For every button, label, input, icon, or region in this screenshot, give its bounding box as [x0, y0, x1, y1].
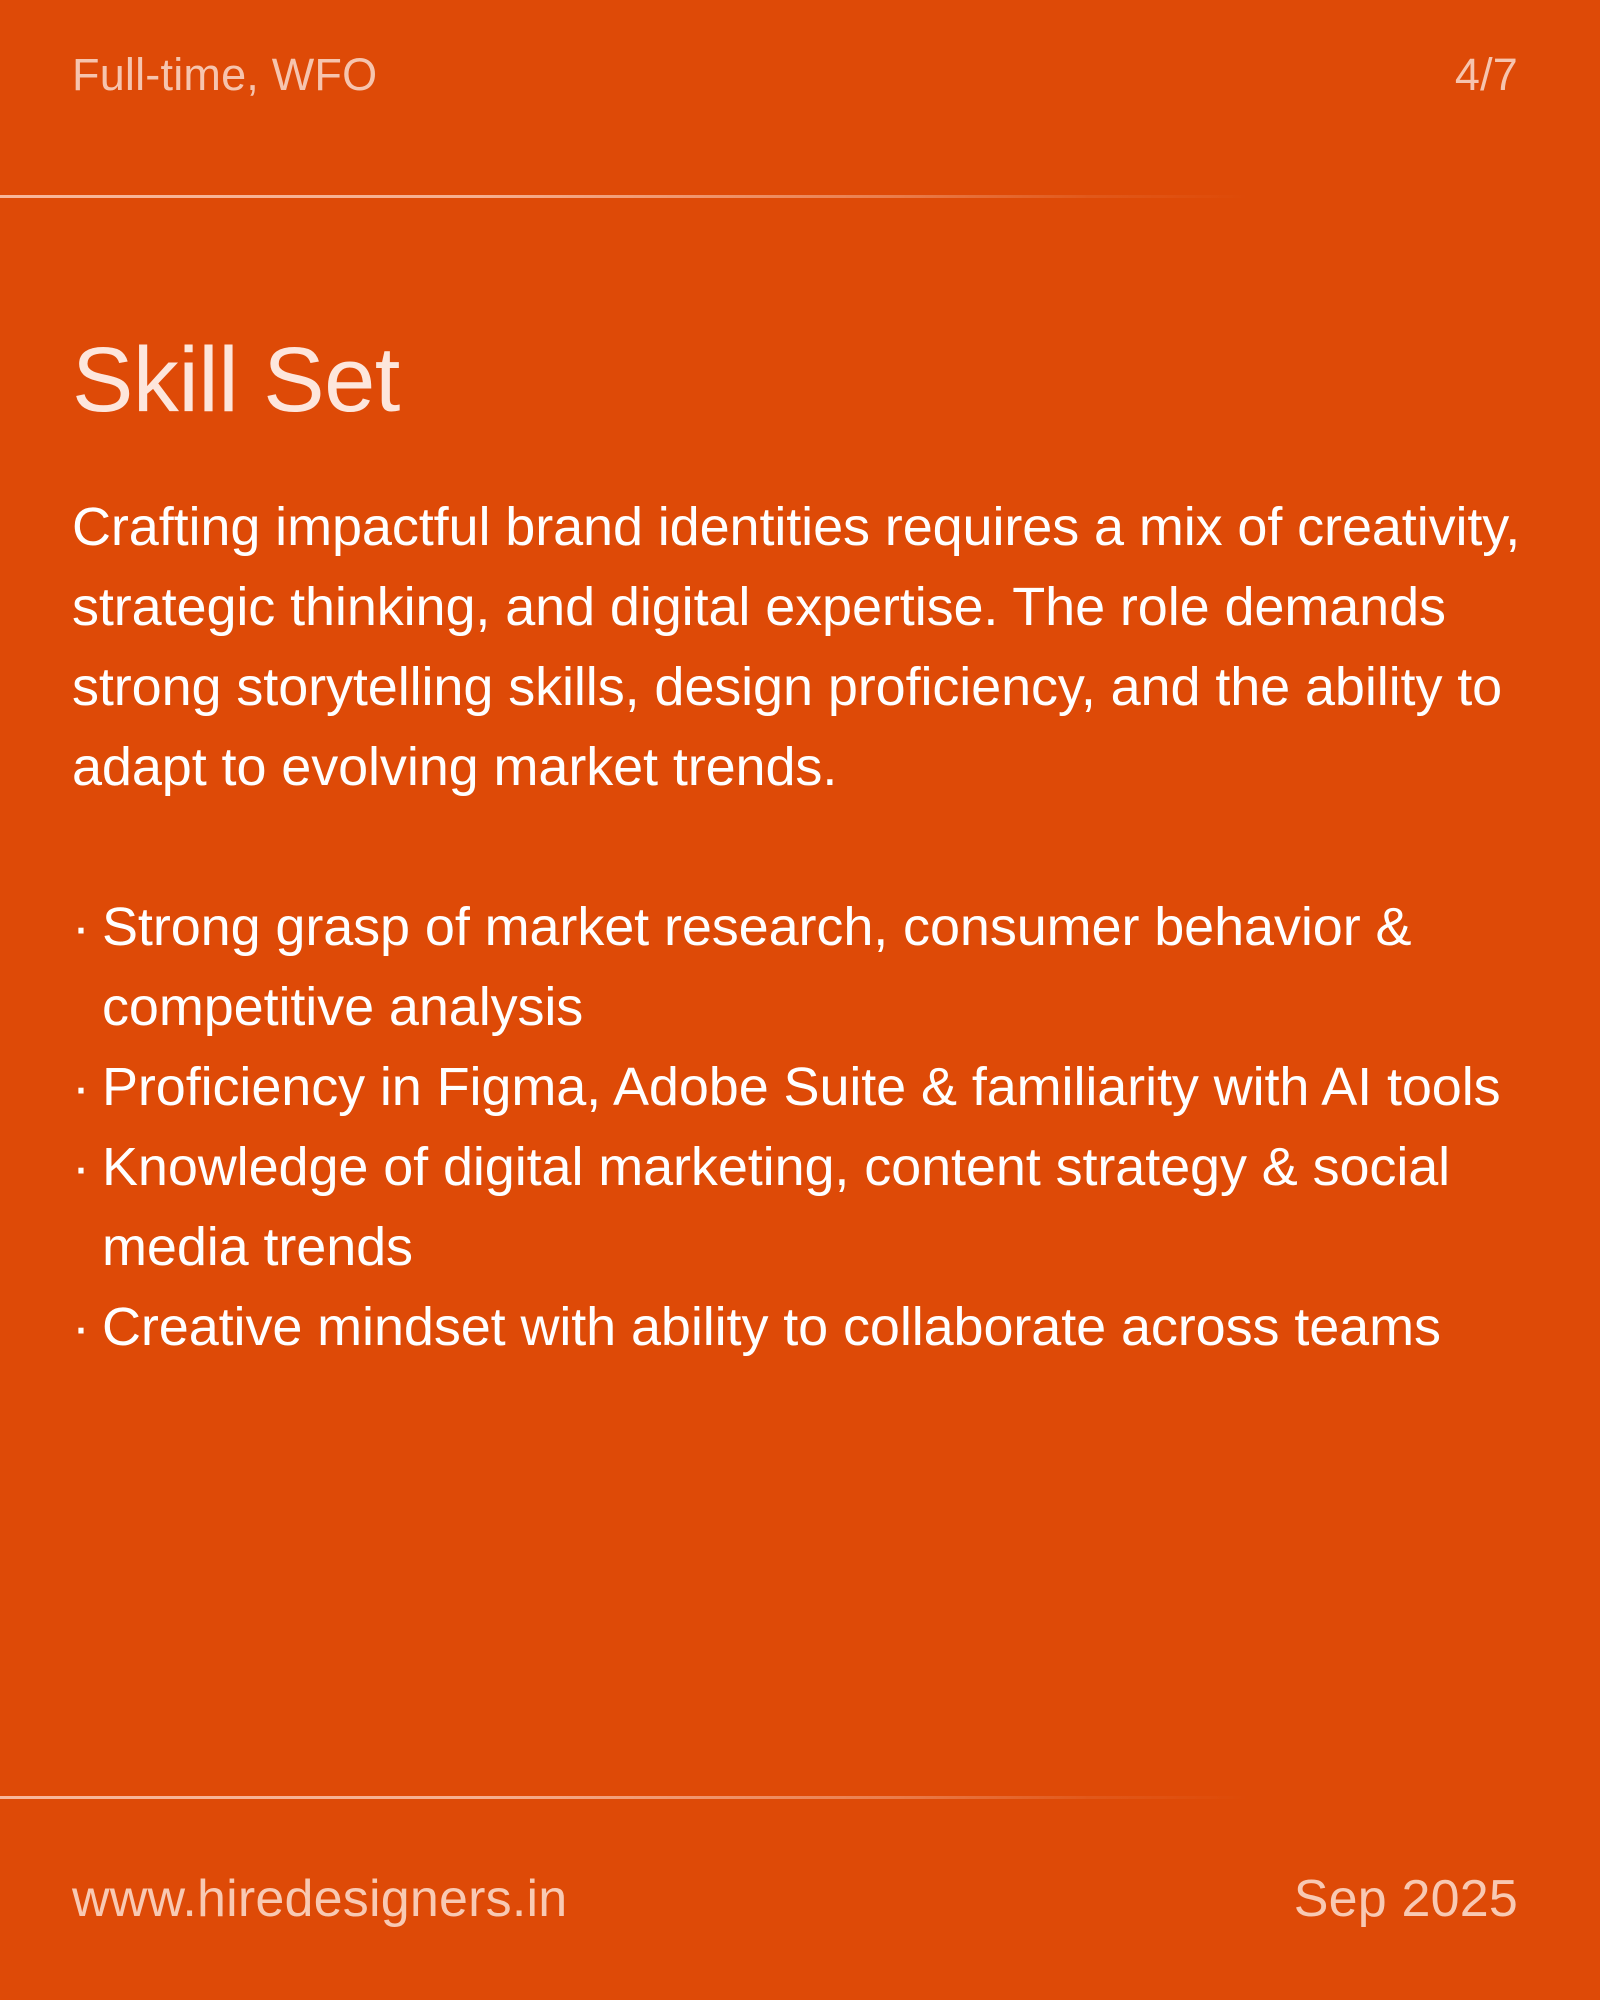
list-item-label: Proficiency in Figma, Adobe Suite & fami…	[102, 1057, 1501, 1117]
list-item: · Creative mindset with ability to colla…	[72, 1287, 1542, 1367]
list-item: · Proficiency in Figma, Adobe Suite & fa…	[72, 1047, 1542, 1127]
intro-paragraph: Crafting impactful brand identities requ…	[72, 487, 1542, 807]
bullet-icon: ·	[72, 887, 90, 967]
list-item: · Strong grasp of market research, consu…	[72, 887, 1542, 1047]
skill-requirements-list: · Strong grasp of market research, consu…	[72, 887, 1542, 1367]
bullet-icon: ·	[72, 1127, 90, 1207]
employment-type-label: Full-time, WFO	[72, 52, 377, 97]
slide-header: Full-time, WFO 4/7	[0, 0, 1600, 197]
website-link[interactable]: www.hiredesigners.in	[72, 1873, 567, 1925]
job-posting-slide: Full-time, WFO 4/7 Skill Set Crafting im…	[0, 0, 1600, 2000]
list-item: · Knowledge of digital marketing, conten…	[72, 1127, 1542, 1287]
list-item-label: Creative mindset with ability to collabo…	[102, 1297, 1441, 1357]
slide-footer: www.hiredesigners.in Sep 2025	[0, 1797, 1600, 2000]
list-item-label: Strong grasp of market research, consume…	[102, 897, 1411, 1037]
bullet-icon: ·	[72, 1047, 90, 1127]
bullet-icon: ·	[72, 1287, 90, 1367]
list-item-label: Knowledge of digital marketing, content …	[102, 1137, 1450, 1277]
header-divider	[0, 195, 1600, 198]
page-indicator: 4/7	[1455, 52, 1518, 97]
page-title: Skill Set	[72, 332, 1542, 429]
publication-date: Sep 2025	[1294, 1873, 1518, 1925]
slide-body: Skill Set Crafting impactful brand ident…	[72, 332, 1542, 1367]
